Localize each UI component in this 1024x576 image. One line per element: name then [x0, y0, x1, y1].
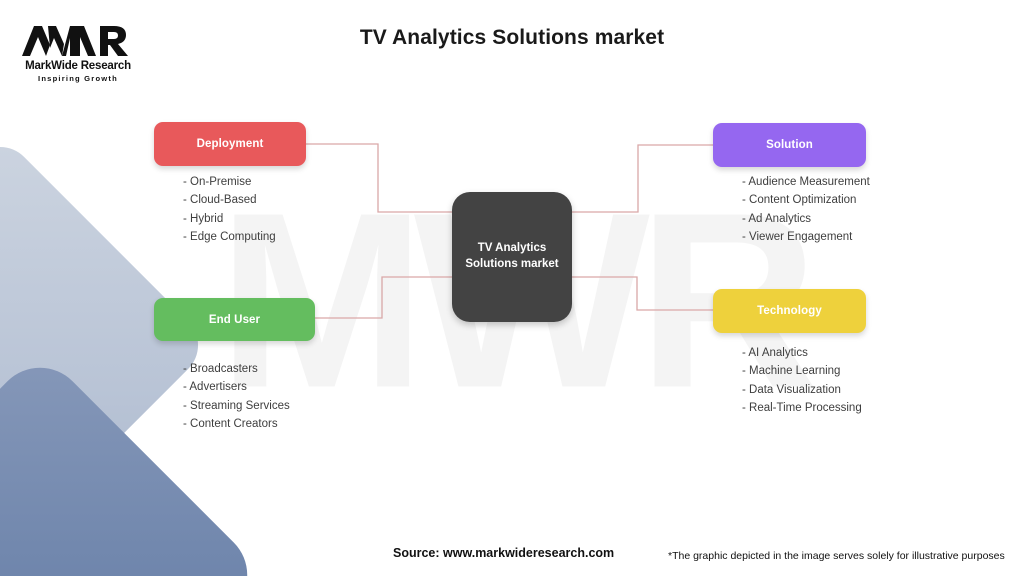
- list-item: - Hybrid: [183, 210, 276, 228]
- list-item: - Content Optimization: [742, 191, 870, 209]
- branch-node-technology[interactable]: Technology: [713, 289, 866, 333]
- branch-node-end-user[interactable]: End User: [154, 298, 315, 341]
- list-item: - Advertisers: [183, 378, 290, 396]
- list-item: - Viewer Engagement: [742, 228, 870, 246]
- connector-deployment: [306, 144, 452, 212]
- list-item: - Streaming Services: [183, 397, 290, 415]
- list-item: - Audience Measurement: [742, 173, 870, 191]
- list-item: - Data Visualization: [742, 381, 862, 399]
- disclaimer-text: *The graphic depicted in the image serve…: [668, 550, 1005, 562]
- connector-end-user: [315, 277, 452, 318]
- branch-node-deployment[interactable]: Deployment: [154, 122, 306, 166]
- list-item: - Edge Computing: [183, 228, 276, 246]
- list-item: - Cloud-Based: [183, 191, 276, 209]
- source-text: Source: www.markwideresearch.com: [393, 546, 614, 560]
- branch-items-technology: - AI Analytics - Machine Learning - Data…: [742, 344, 862, 418]
- branch-items-solution: - Audience Measurement - Content Optimiz…: [742, 173, 870, 247]
- list-item: - AI Analytics: [742, 344, 862, 362]
- list-item: - Broadcasters: [183, 360, 290, 378]
- branch-items-deployment: - On-Premise - Cloud-Based - Hybrid - Ed…: [183, 173, 276, 247]
- branch-node-solution[interactable]: Solution: [713, 123, 866, 167]
- branch-label-deployment: Deployment: [197, 138, 264, 150]
- branch-items-end-user: - Broadcasters - Advertisers - Streaming…: [183, 360, 290, 434]
- center-node-label: TV Analytics Solutions market: [465, 241, 558, 272]
- infographic-canvas: MWR MarkWide Research Inspiring Growth T…: [0, 0, 1024, 576]
- list-item: - On-Premise: [183, 173, 276, 191]
- branch-label-end-user: End User: [209, 314, 260, 326]
- list-item: - Machine Learning: [742, 362, 862, 380]
- list-item: - Ad Analytics: [742, 210, 870, 228]
- connector-solution: [572, 145, 713, 212]
- list-item: - Content Creators: [183, 415, 290, 433]
- connector-technology: [572, 277, 713, 310]
- branch-label-technology: Technology: [757, 305, 822, 317]
- center-node-label-line2: Solutions market: [465, 257, 558, 273]
- center-node-label-line1: TV Analytics: [465, 241, 558, 257]
- center-node[interactable]: TV Analytics Solutions market: [452, 192, 572, 322]
- branch-label-solution: Solution: [766, 139, 813, 151]
- list-item: - Real-Time Processing: [742, 399, 862, 417]
